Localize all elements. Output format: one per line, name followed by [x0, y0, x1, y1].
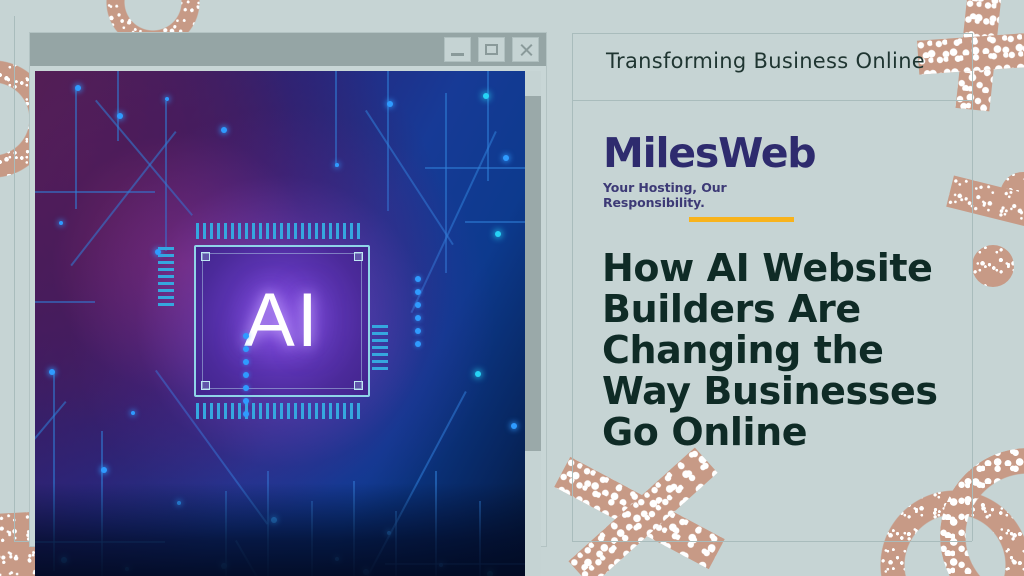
logo-wordmark: MilesWeb — [603, 133, 803, 174]
scrollbar-thumb[interactable] — [525, 96, 541, 451]
headline-line-5: Go Online — [602, 412, 972, 453]
close-icon — [519, 43, 533, 57]
chip-pins-right — [372, 325, 388, 370]
ai-circuit-illustration: AI — [35, 71, 529, 576]
logo-tagline: Your Hosting, Our Responsibility. — [603, 180, 803, 210]
slide-canvas: AI — [0, 0, 1024, 576]
chip-pins-top — [196, 223, 360, 239]
minimize-button[interactable] — [444, 37, 471, 62]
maximize-icon — [485, 44, 498, 55]
logo-underline-bar — [689, 217, 794, 222]
chip-pins-left — [158, 247, 174, 306]
panel-frame-right — [972, 33, 973, 541]
brush-circle-right-upper — [1000, 172, 1024, 218]
logo-wordmark-web: Web — [718, 129, 815, 177]
panel-frame-bottom — [572, 541, 972, 542]
kicker-text: Transforming Business Online — [606, 49, 925, 73]
outer-frame-left — [14, 16, 15, 541]
ai-chip: AI — [194, 245, 370, 397]
chip-pins-bottom — [196, 403, 360, 419]
maximize-button[interactable] — [478, 37, 505, 62]
headline-line-4: Way Businesses — [602, 371, 972, 412]
dot-column-right — [415, 276, 421, 347]
window-viewport: AI — [35, 71, 529, 576]
chip-label: AI — [244, 283, 320, 359]
retro-browser-window[interactable]: AI — [30, 33, 546, 546]
headline-line-2: Builders Are — [602, 289, 972, 330]
content-panel: Transforming Business Online MilesWeb Yo… — [572, 33, 972, 541]
vertical-scrollbar[interactable] — [525, 71, 541, 576]
brush-circle-right-lower — [972, 245, 1014, 287]
minimize-icon — [451, 53, 464, 56]
window-titlebar[interactable] — [30, 33, 546, 66]
dot-column-left — [243, 333, 249, 417]
headline-line-1: How AI Website — [602, 248, 972, 289]
page-title: How AI Website Builders Are Changing the… — [602, 248, 972, 453]
close-button[interactable] — [512, 37, 539, 62]
headline-line-3: Changing the — [602, 330, 972, 371]
milesweb-logo[interactable]: MilesWeb Your Hosting, Our Responsibilit… — [603, 133, 803, 222]
logo-wordmark-miles: Miles — [603, 129, 718, 177]
